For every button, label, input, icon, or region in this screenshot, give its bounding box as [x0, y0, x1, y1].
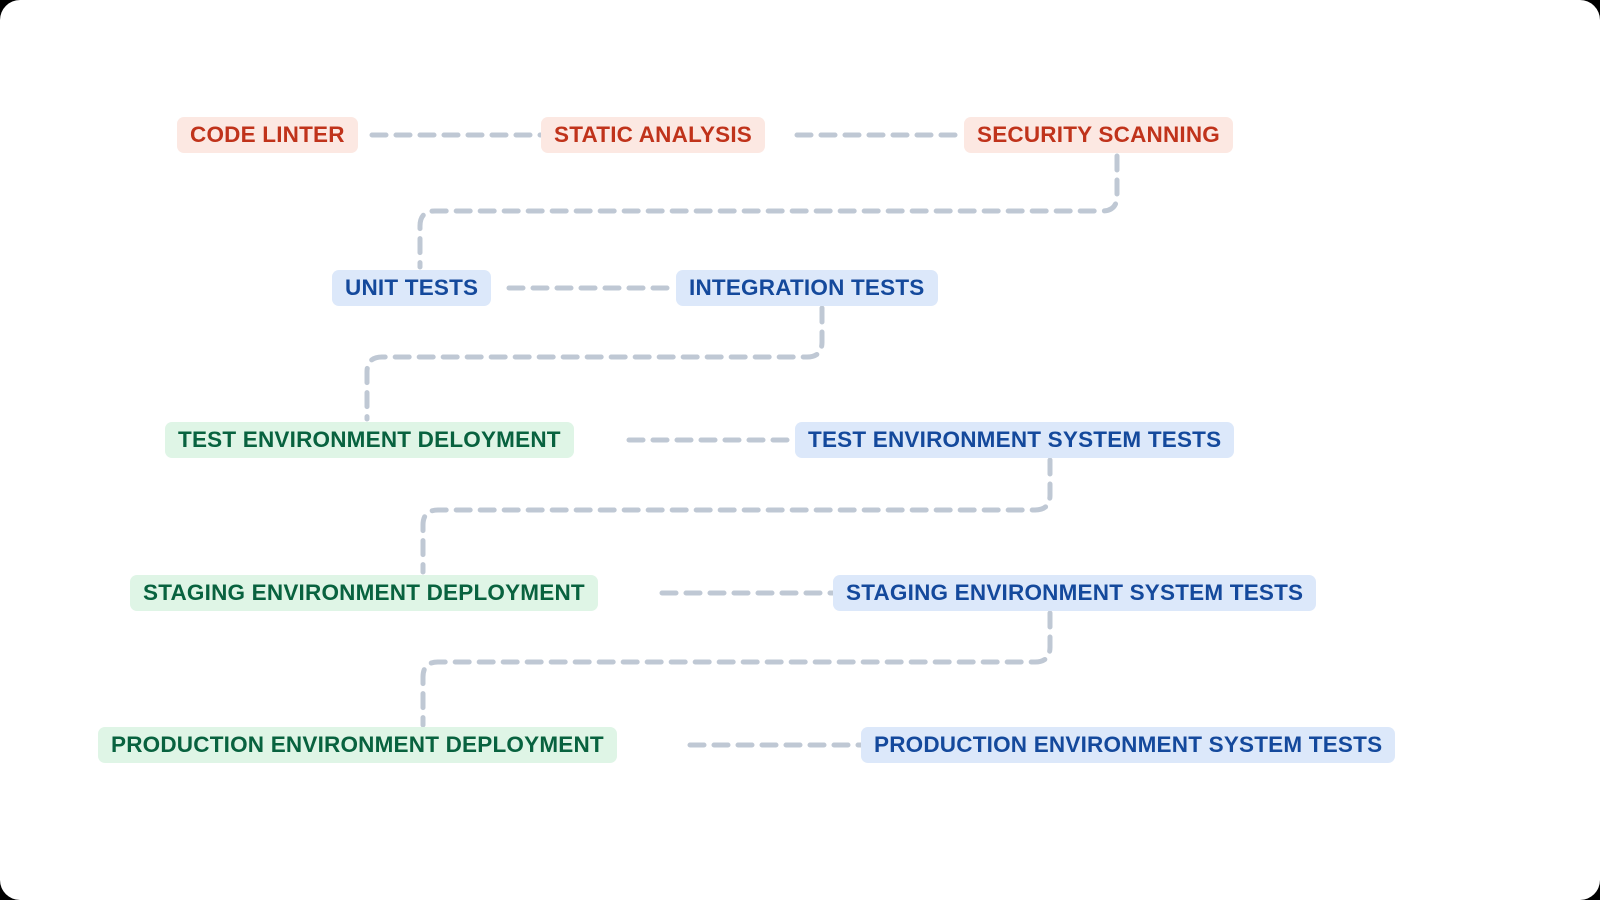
node-unit-tests[interactable]: UNIT TESTS	[332, 270, 491, 306]
diagram-canvas: CODE LINTERSTATIC ANALYSISSECURITY SCANN…	[0, 0, 1600, 900]
node-label-staging-environment-system-tests: STAGING ENVIRONMENT SYSTEM TESTS	[846, 582, 1303, 605]
node-code-linter[interactable]: CODE LINTER	[177, 117, 358, 153]
node-staging-environment-system-tests[interactable]: STAGING ENVIRONMENT SYSTEM TESTS	[833, 575, 1316, 611]
node-production-environment-deployment[interactable]: PRODUCTION ENVIRONMENT DEPLOYMENT	[98, 727, 617, 763]
node-label-production-environment-deployment: PRODUCTION ENVIRONMENT DEPLOYMENT	[111, 734, 604, 757]
node-label-security-scanning: SECURITY SCANNING	[977, 124, 1220, 147]
node-label-staging-environment-deployment: STAGING ENVIRONMENT DEPLOYMENT	[143, 582, 585, 605]
edge-integration-tests-test-env-deloyment	[367, 308, 822, 419]
node-integration-tests[interactable]: INTEGRATION TESTS	[676, 270, 938, 306]
node-production-environment-system-tests[interactable]: PRODUCTION ENVIRONMENT SYSTEM TESTS	[861, 727, 1395, 763]
node-label-static-analysis: STATIC ANALYSIS	[554, 124, 752, 147]
node-staging-environment-deployment[interactable]: STAGING ENVIRONMENT DEPLOYMENT	[130, 575, 598, 611]
node-label-production-environment-system-tests: PRODUCTION ENVIRONMENT SYSTEM TESTS	[874, 734, 1382, 757]
node-security-scanning[interactable]: SECURITY SCANNING	[964, 117, 1233, 153]
node-label-test-environment-system-tests: TEST ENVIRONMENT SYSTEM TESTS	[808, 429, 1221, 452]
node-label-integration-tests: INTEGRATION TESTS	[689, 277, 925, 300]
edge-test-env-system-tests-staging-deployment	[423, 460, 1050, 572]
node-test-environment-deloyment[interactable]: TEST ENVIRONMENT DELOYMENT	[165, 422, 574, 458]
node-label-code-linter: CODE LINTER	[190, 124, 345, 147]
edge-staging-system-tests-production-deployment	[423, 613, 1050, 725]
node-label-unit-tests: UNIT TESTS	[345, 277, 478, 300]
node-label-test-environment-deloyment: TEST ENVIRONMENT DELOYMENT	[178, 429, 561, 452]
node-test-environment-system-tests[interactable]: TEST ENVIRONMENT SYSTEM TESTS	[795, 422, 1234, 458]
node-static-analysis[interactable]: STATIC ANALYSIS	[541, 117, 765, 153]
edge-security-scanning-unit-tests	[420, 156, 1117, 267]
